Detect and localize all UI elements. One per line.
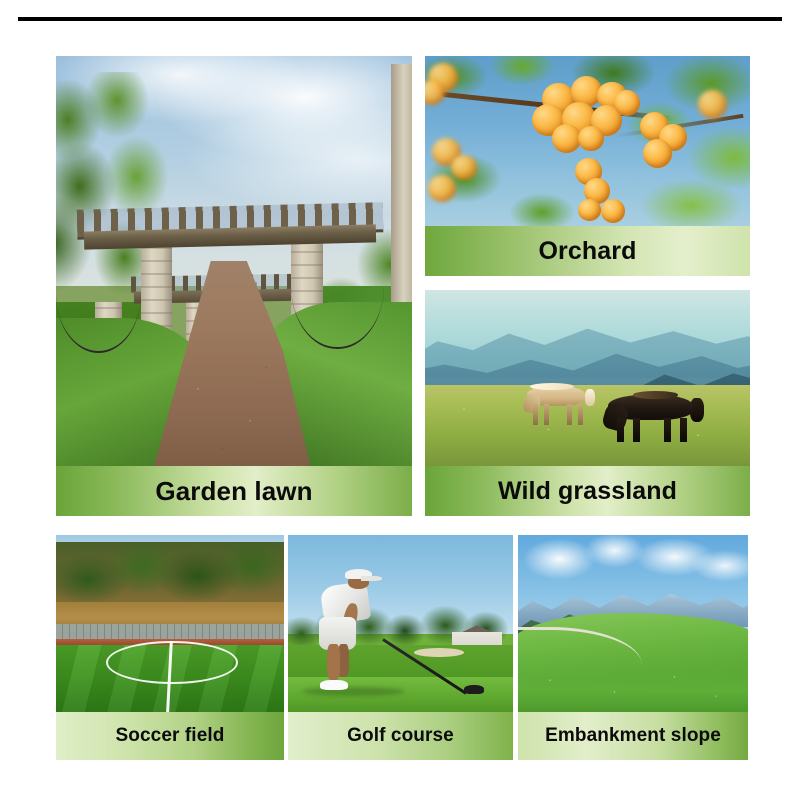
caption-garden-lawn: Garden lawn [56,466,412,516]
apricot-fruit [601,199,625,223]
panel-wild-grassland[interactable]: Wild grassland [425,290,750,516]
caption-label: Soccer field [116,725,225,747]
photo-wild-grassland [425,290,750,466]
horse-leg [578,404,583,424]
caption-label: Orchard [539,237,637,266]
horse-leg [617,418,624,442]
golfer-leg [338,644,349,677]
top-divider-rule [18,17,782,21]
apricot-fruit [428,175,456,202]
caption-golf-course: Golf course [288,712,513,760]
apricot-fruit [578,199,601,221]
horse-leg [633,418,640,442]
photo-golf-course [288,535,513,712]
caption-orchard: Orchard [425,226,750,276]
horse-palomino [523,382,595,426]
apricot-fruit [614,90,640,116]
caption-wild-grassland: Wild grassland [425,466,750,516]
apricot-fruit [643,139,672,168]
golf-club-head [464,685,484,694]
horse-black [604,390,702,443]
caption-label: Embankment slope [545,725,721,747]
horse-leg [680,418,687,442]
caption-label: Golf course [347,725,454,747]
photo-embankment-slope [518,535,748,712]
horse-leg [544,404,549,424]
panel-garden-lawn[interactable]: Garden lawn [56,56,412,516]
panel-orchard[interactable]: Orchard [425,56,750,276]
golfer-shoe [320,680,348,690]
apricot-fruit [552,124,581,153]
horse-tail [585,389,595,406]
meadow-foreground [518,659,748,712]
horse-leg [567,404,572,424]
sand-bunker [414,648,464,657]
photo-orchard [425,56,750,226]
caption-embankment-slope: Embankment slope [518,712,748,760]
golfer-figure [311,565,392,692]
caption-soccer-field: Soccer field [56,712,284,760]
golfer-leg [327,644,340,680]
apricot-fruit [698,90,727,119]
photo-soccer-field [56,535,284,712]
caption-label: Garden lawn [155,476,312,507]
panel-embankment-slope[interactable]: Embankment slope [518,535,748,760]
golfer-cap-visor [361,576,382,581]
apricot-fruit [451,155,477,181]
panel-golf-course[interactable]: Golf course [288,535,513,760]
apricot-fruit [578,126,604,152]
horse-leg [664,418,671,442]
panel-soccer-field[interactable]: Soccer field [56,535,284,760]
horse-mane [633,391,678,398]
photo-garden-lawn [56,56,412,466]
caption-label: Wild grassland [498,477,677,506]
horse-leg [533,404,538,424]
